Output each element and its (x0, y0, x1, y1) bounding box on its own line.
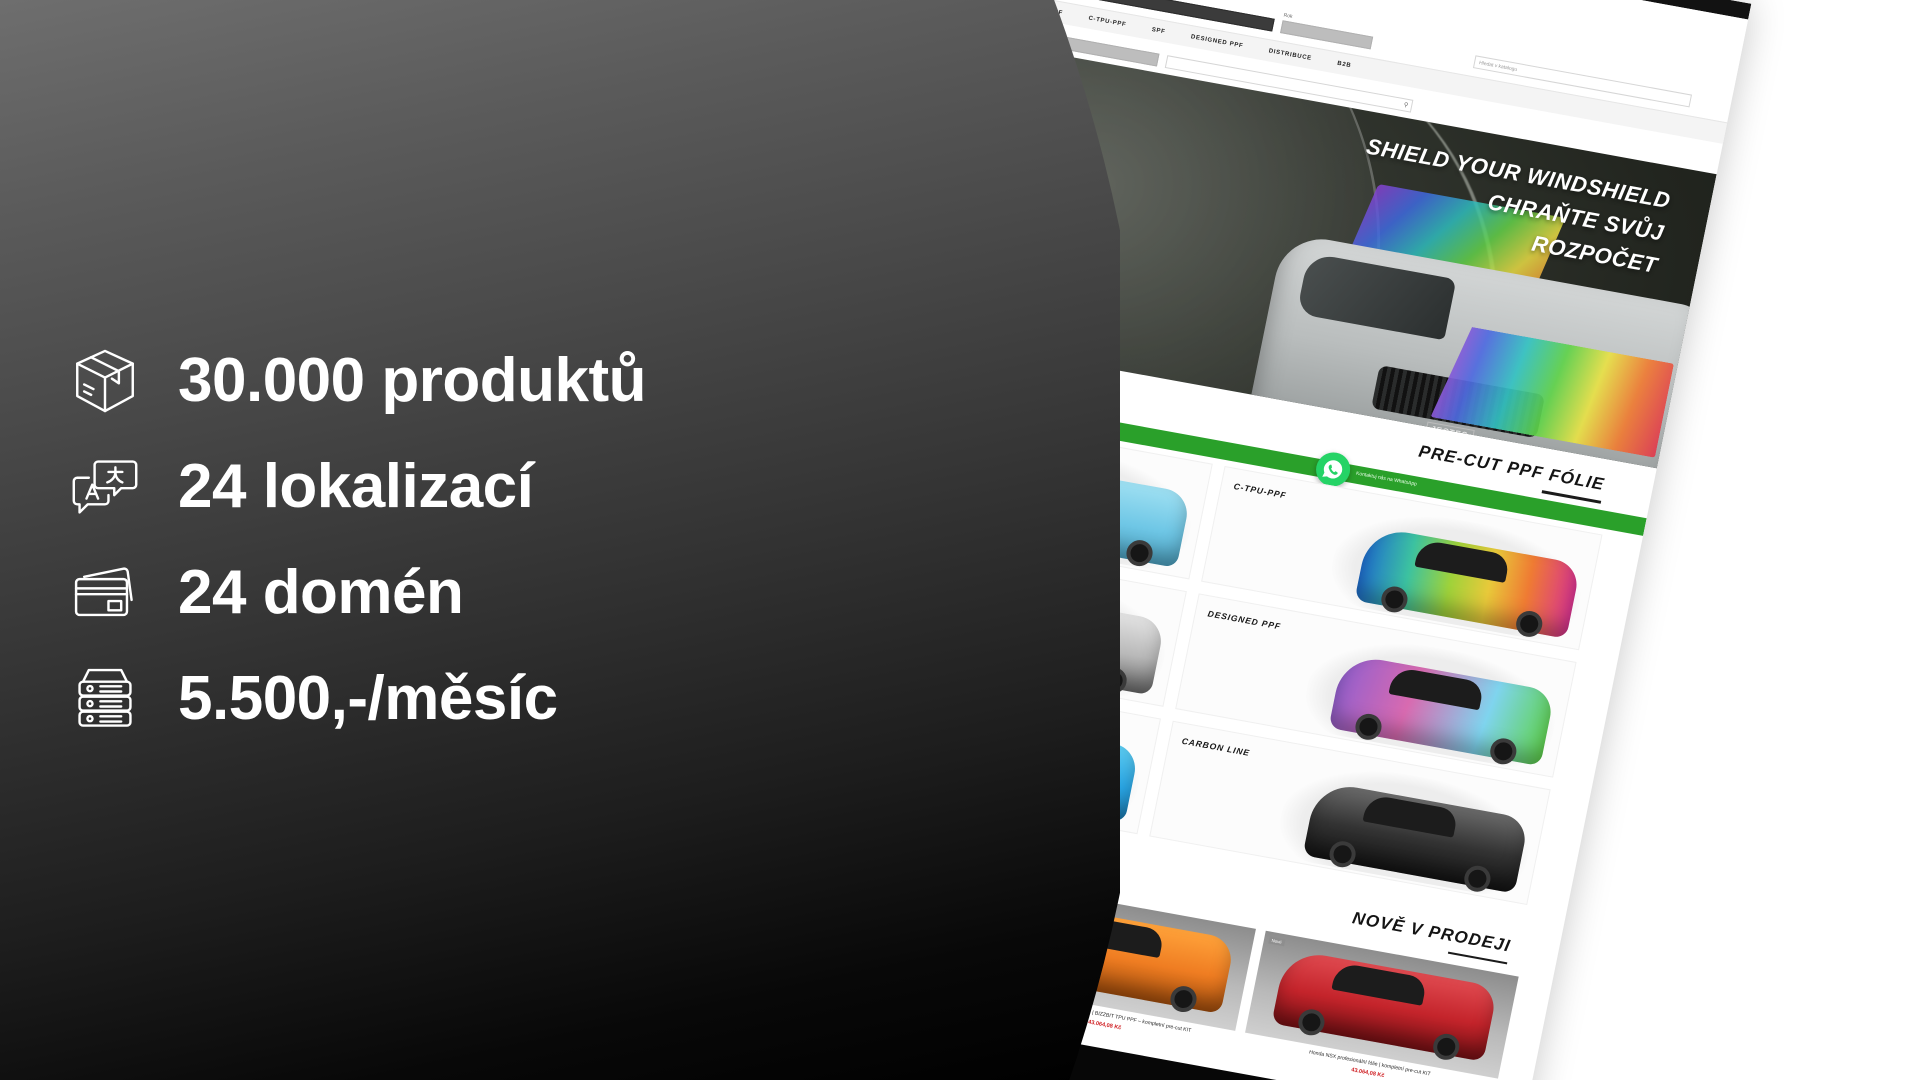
search-placeholder: Hledat v katalogu (1478, 60, 1517, 73)
stat-price: 5.500,-/měsíc (62, 660, 860, 738)
category-label: DESIGNED PPF (1207, 608, 1282, 631)
stat-label: 5.500,-/měsíc (178, 668, 558, 730)
stat-products: 30.000 produktů (62, 342, 860, 420)
server-stack-icon (62, 660, 148, 738)
category-label: CARBON LINE (1181, 735, 1251, 757)
credit-cards-icon (62, 554, 148, 632)
nav-item-c-tpu-ppf[interactable]: C-TPU-PPF (1088, 15, 1127, 28)
nav-item-distribuce[interactable]: DISTRIBUCE (1268, 48, 1312, 62)
feature-stats-list: 30.000 produktů 24 lokalizací 24 domén (0, 0, 860, 1080)
stat-domains: 24 domén (62, 554, 860, 632)
product-badge: Nové (1268, 936, 1285, 946)
nav-item-spf[interactable]: SPF (1151, 27, 1166, 35)
stat-label: 30.000 produktů (178, 350, 646, 412)
stat-label: 24 lokalizací (178, 456, 533, 518)
nav-item-designed-ppf[interactable]: DESIGNED PPF (1190, 34, 1243, 49)
translate-icon (62, 448, 148, 526)
stat-localizations: 24 lokalizací (62, 448, 860, 526)
car-windshield (1296, 253, 1456, 341)
package-box-icon (62, 342, 148, 420)
category-label: C-TPU-PPF (1233, 481, 1288, 500)
stat-label: 24 domén (178, 562, 463, 624)
nav-item-b2b[interactable]: B2B (1337, 60, 1352, 68)
